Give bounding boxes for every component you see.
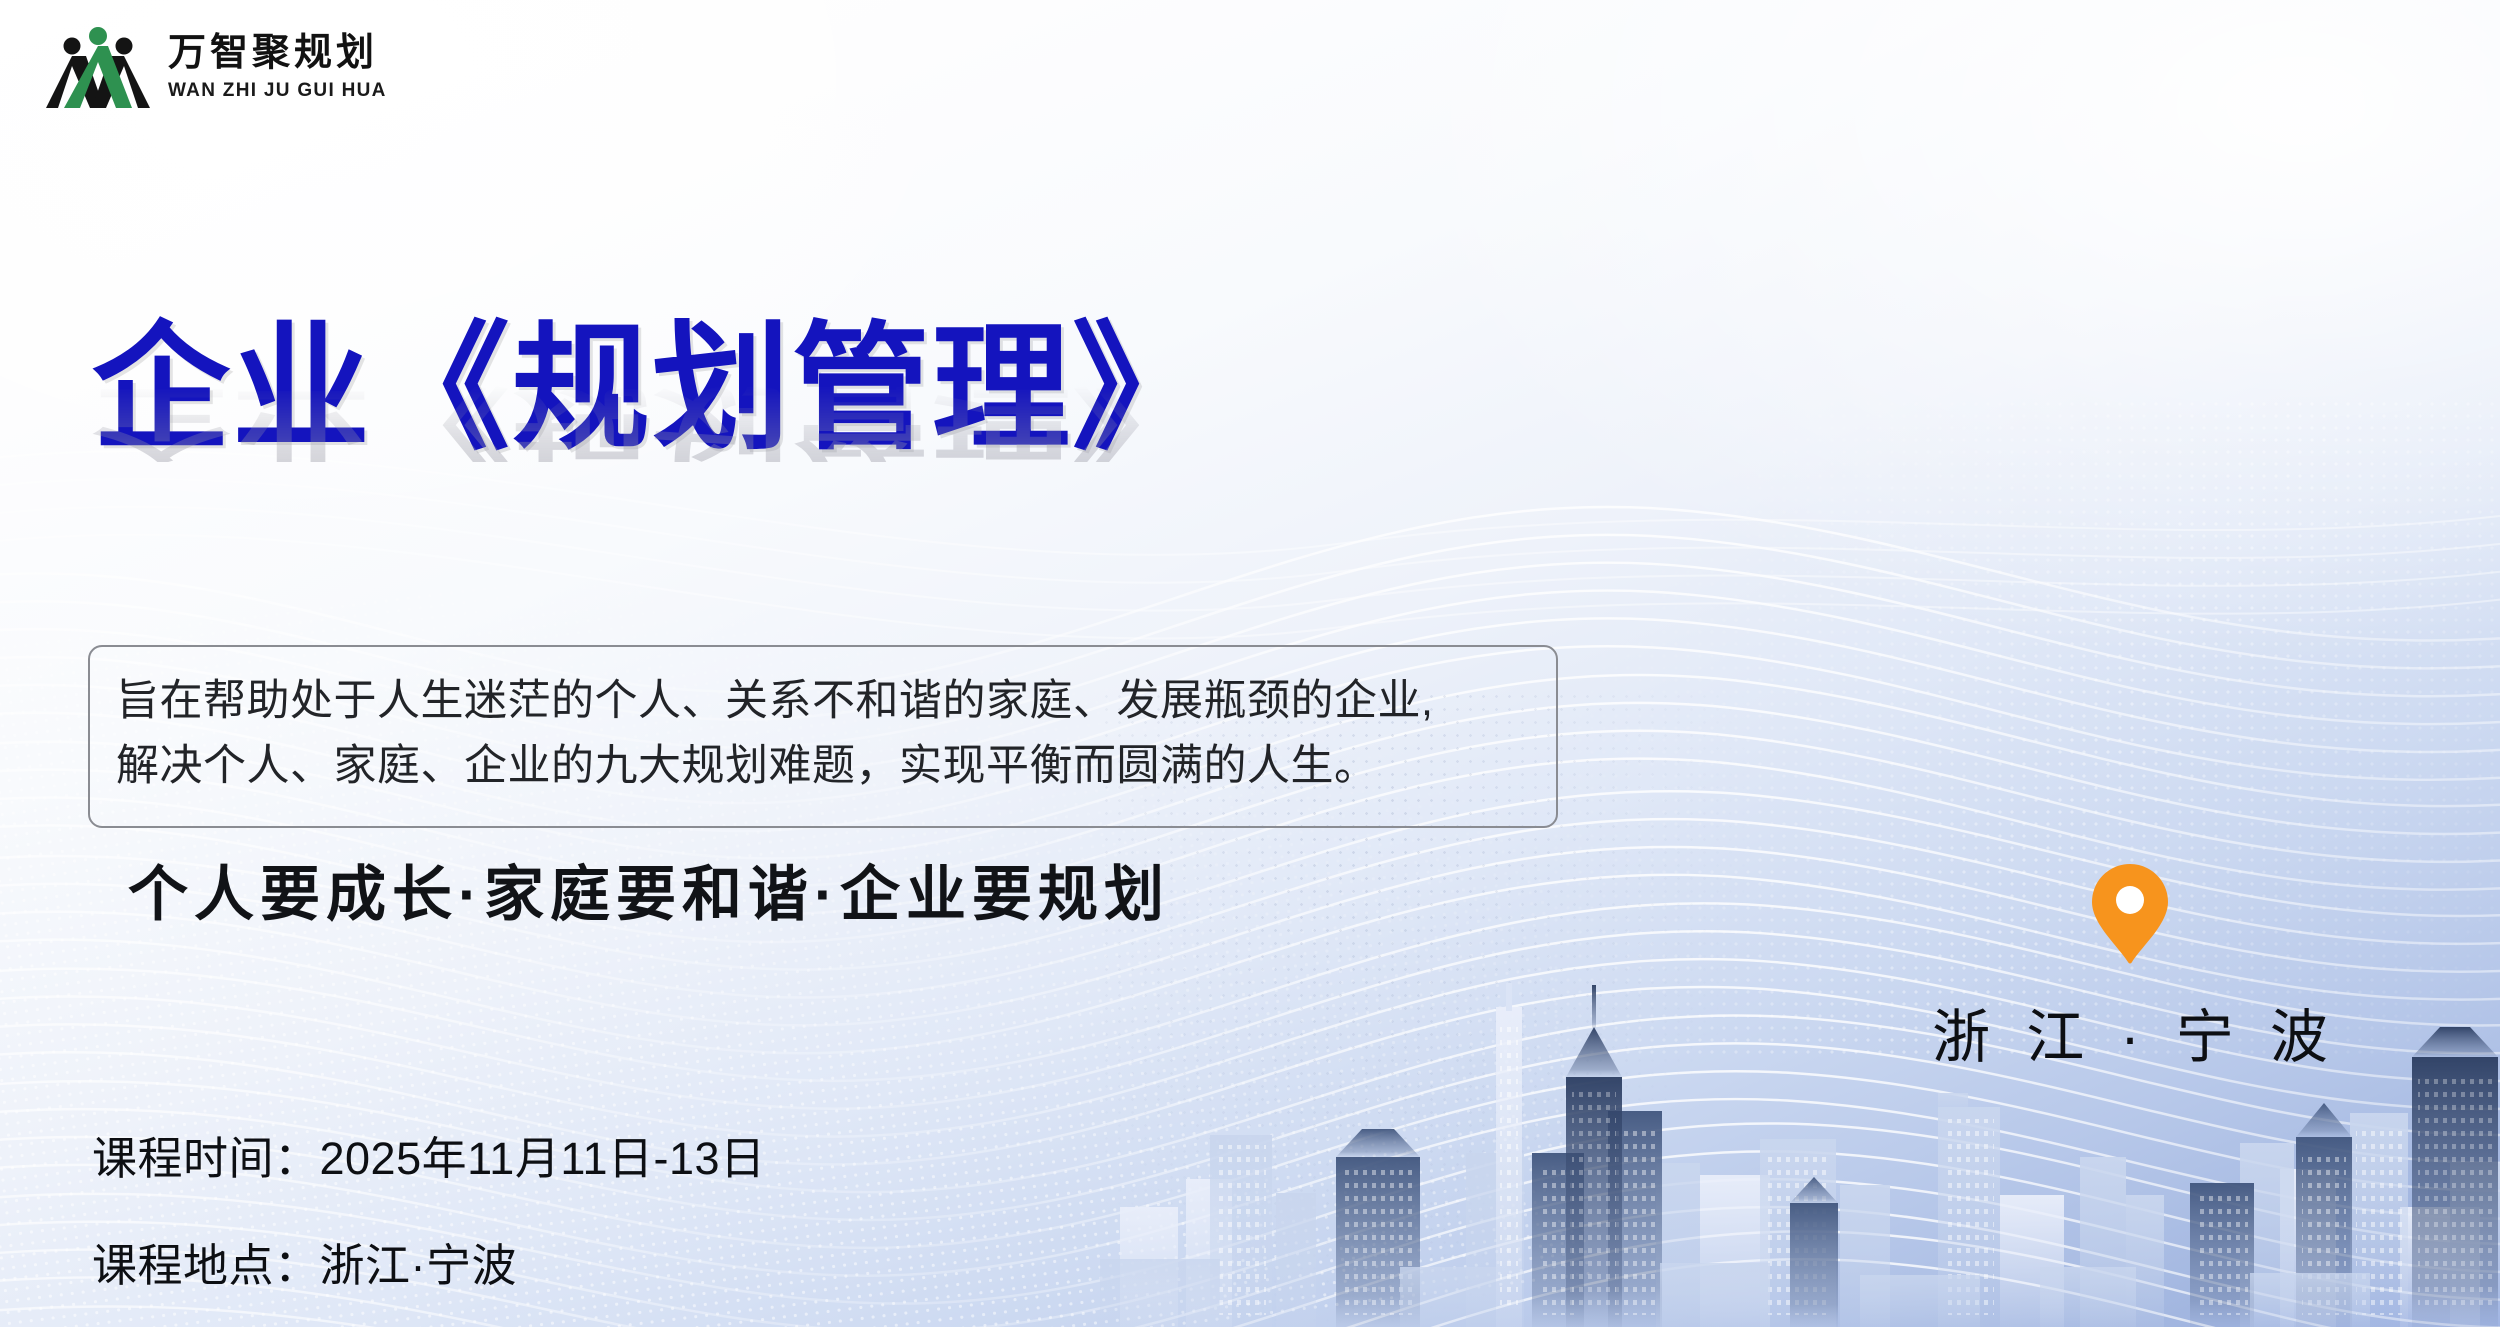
location-block: 浙 江 · 宁 波 [1940,862,2320,1074]
course-time: 课程时间：2025年11月11日-13日 [92,1122,766,1187]
poster-canvas: 万智聚规划 WAN ZHI JU GUI HUA 企业《规划管理》 企业《规划管… [0,0,2500,1327]
description-box: 旨在帮助处于人生迷茫的个人、关系不和谐的家庭、发展瓶颈的企业, 解决个人、家庭、… [88,645,1558,828]
brand-logo[interactable]: 万智聚规划 WAN ZHI JU GUI HUA [46,22,387,112]
three-people-logo-icon [46,22,150,112]
course-info-block: 课程时间：2025年11月11日-13日 课程地点：浙江·宁波 [92,1122,766,1294]
brand-name-en: WAN ZHI JU GUI HUA [168,81,387,100]
brand-name-block: 万智聚规划 WAN ZHI JU GUI HUA [168,34,387,100]
course-place: 课程地点：浙江·宁波 [92,1229,766,1294]
description-line-1: 旨在帮助处于人生迷茫的个人、关系不和谐的家庭、发展瓶颈的企业, [116,669,1530,734]
tagline: 个人要成长·家庭要和谐·企业要规划 [128,846,1170,933]
hero-title-block: 企业《规划管理》 企业《规划管理》 [92,320,1652,600]
map-pin-icon [2084,862,2176,966]
description-line-2: 解决个人、家庭、企业的九大规划难题，实现平衡而圆满的人生。 [116,734,1530,799]
brand-name-cn: 万智聚规划 [168,34,387,72]
page-title-reflection: 企业《规划管理》 [92,382,1652,462]
location-label: 浙 江 · 宁 波 [1922,990,2338,1074]
